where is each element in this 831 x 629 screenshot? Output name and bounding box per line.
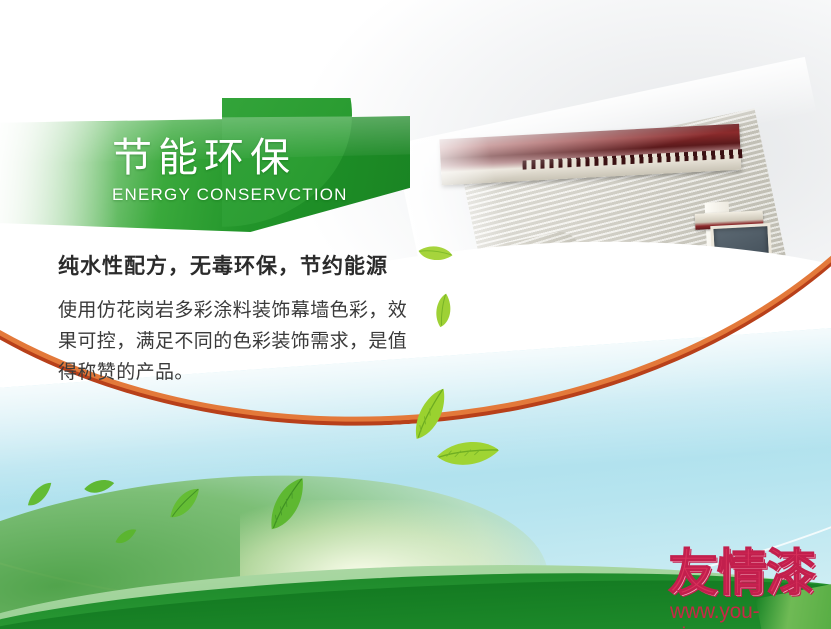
banner-title-en: ENERGY CONSERVCTION: [112, 185, 412, 205]
paragraph-text: 使用仿花岗岩多彩涂料装饰幕墙色彩，效果可控，满足不同的色彩装饰需求，是值得称赞的…: [58, 295, 418, 387]
logo-brand-name: 友情漆: [668, 548, 815, 598]
logo-website-url: www.you-qing.com: [670, 600, 831, 629]
copy-block: 纯水性配方，无毒环保，节约能源 使用仿花岗岩多彩涂料装饰幕墙色彩，效果可控，满足…: [58, 252, 458, 388]
banner-text-group: 节能环保 ENERGY CONSERVCTION: [112, 138, 412, 205]
brand-logo: 友情漆 www.you-qing.com: [664, 548, 831, 623]
banner-left-fade: [0, 122, 118, 226]
headline-text: 纯水性配方，无毒环保，节约能源: [58, 252, 458, 281]
banner-title-cn: 节能环保: [112, 138, 412, 178]
poster-canvas: 节能环保 ENERGY CONSERVCTION 纯水性配方，无毒环保，节约能源…: [0, 0, 831, 629]
headline-banner: 节能环保 ENERGY CONSERVCTION: [0, 116, 410, 232]
